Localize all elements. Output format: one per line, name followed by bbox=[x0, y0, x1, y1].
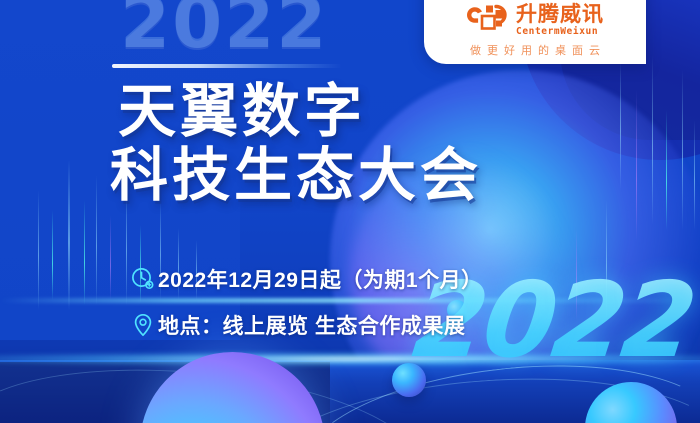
cloud-squares-icon bbox=[466, 3, 510, 37]
event-date-text: 2022年12月29日起（为期1个月） bbox=[158, 264, 483, 294]
page-title-line1: 天翼数字 bbox=[110, 80, 570, 144]
event-date-row: 2022年12月29日起（为期1个月） bbox=[128, 262, 483, 296]
brand-logo-main: 升腾威讯 CentermWeixun bbox=[466, 3, 604, 37]
page-title-line2: 科技生态大会 bbox=[110, 144, 570, 208]
event-details: 2022年12月29日起（为期1个月） 地点：线上展览 生态合作成果展 bbox=[128, 262, 483, 354]
page-title: 天翼数字 科技生态大会 bbox=[110, 80, 570, 208]
title-divider bbox=[112, 64, 342, 68]
brand-name-cn: 升腾威讯 bbox=[516, 4, 604, 25]
clock-icon bbox=[128, 264, 158, 294]
brand-logo-text: 升腾威讯 CentermWeixun bbox=[516, 4, 604, 37]
brand-tagline: 做更好用的桌面云 bbox=[464, 42, 606, 58]
event-location-text: 地点：线上展览 生态合作成果展 bbox=[158, 310, 465, 340]
event-poster: 2022 2022 天翼数字 科技生态大会 2022年12月29日起（为期1个月… bbox=[0, 0, 700, 423]
brand-name-en: CentermWeixun bbox=[516, 27, 604, 37]
brand-logo-card[interactable]: 升腾威讯 CentermWeixun 做更好用的桌面云 bbox=[424, 0, 646, 64]
year-heading: 2022 bbox=[120, 0, 328, 58]
event-location-row: 地点：线上展览 生态合作成果展 bbox=[128, 308, 483, 342]
location-pin-icon bbox=[128, 310, 158, 340]
